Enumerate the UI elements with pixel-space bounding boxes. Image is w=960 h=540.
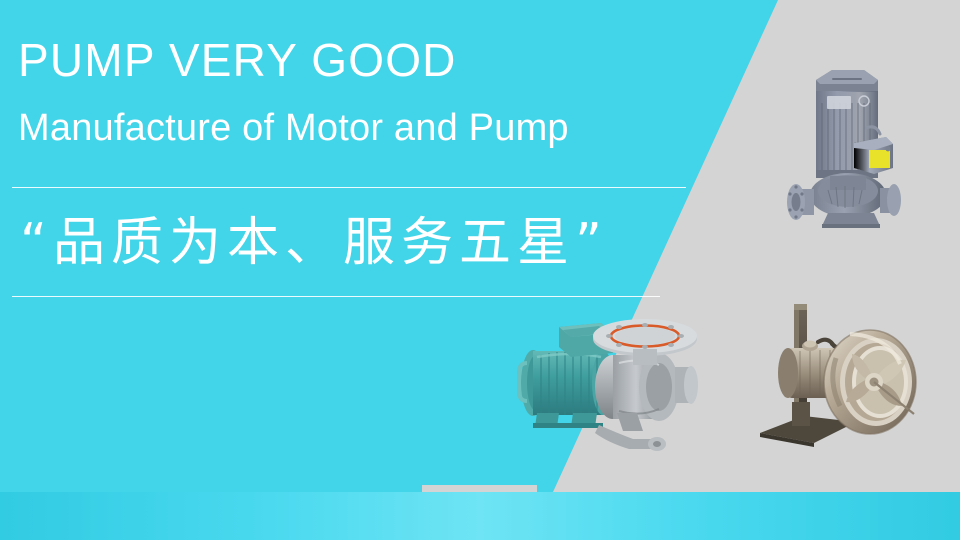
side-outlet-flange — [675, 366, 698, 404]
pump-casing — [810, 173, 886, 217]
pump-flange-left — [787, 184, 814, 220]
page-subtitle: Manufacture of Motor and Pump — [18, 104, 569, 152]
vertical-inline-pump-image — [770, 58, 920, 243]
divider-bottom — [12, 296, 660, 297]
motor-feet — [533, 413, 603, 428]
pump-flange-right — [880, 184, 901, 216]
bottom-accent-bar — [0, 492, 960, 540]
horizontal-motor-pump-image — [497, 305, 719, 457]
submersible-mixer-image — [748, 298, 938, 456]
headline-block: PUMP VERY GOOD Manufacture of Motor and … — [0, 0, 720, 330]
bottom-gray-tab — [422, 485, 537, 492]
pump-base — [822, 213, 880, 228]
divider-top — [12, 187, 686, 188]
marketing-banner: PUMP VERY GOOD Manufacture of Motor and … — [0, 0, 960, 540]
motor-top-cap — [816, 70, 878, 92]
slogan-text: “品质为本、服务五星” — [20, 197, 608, 289]
page-title: PUMP VERY GOOD — [18, 31, 457, 89]
